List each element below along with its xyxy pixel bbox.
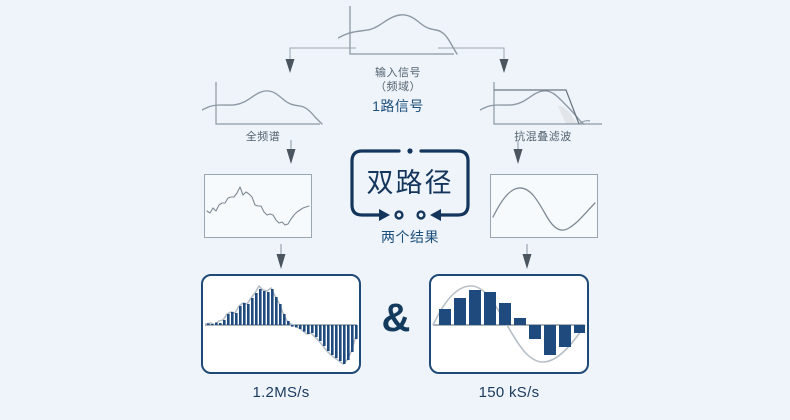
input-caption-line2: （频域） <box>332 80 464 94</box>
full-spectrum-chart <box>202 80 324 132</box>
right-branch-caption: 抗混叠滤波 <box>478 130 608 144</box>
input-sub-label: 1路信号 <box>332 97 464 115</box>
anti-alias-filter-chart <box>480 80 606 132</box>
split-connector <box>282 46 512 80</box>
hub-sub-label: 两个结果 <box>343 228 477 246</box>
low-rate-sampling-box <box>429 274 589 374</box>
filtered-waveform-box <box>490 174 598 238</box>
dual-path-title: 双路径 <box>343 168 477 198</box>
right-rate-label: 150 kS/s <box>429 384 589 401</box>
arrow-down-icon <box>284 140 298 166</box>
high-rate-sampling-box <box>201 274 361 374</box>
arrow-down-icon <box>274 244 288 270</box>
arrow-down-icon <box>520 244 534 270</box>
left-rate-label: 1.2MS/s <box>201 384 361 401</box>
left-branch-caption: 全频谱 <box>198 130 328 144</box>
diagram-canvas: 输入信号 （频域） 1路信号 全频谱 <box>0 0 790 420</box>
arrow-down-icon <box>511 140 525 166</box>
full-bandwidth-waveform-box <box>204 174 312 238</box>
ampersand-label: & <box>366 298 426 338</box>
